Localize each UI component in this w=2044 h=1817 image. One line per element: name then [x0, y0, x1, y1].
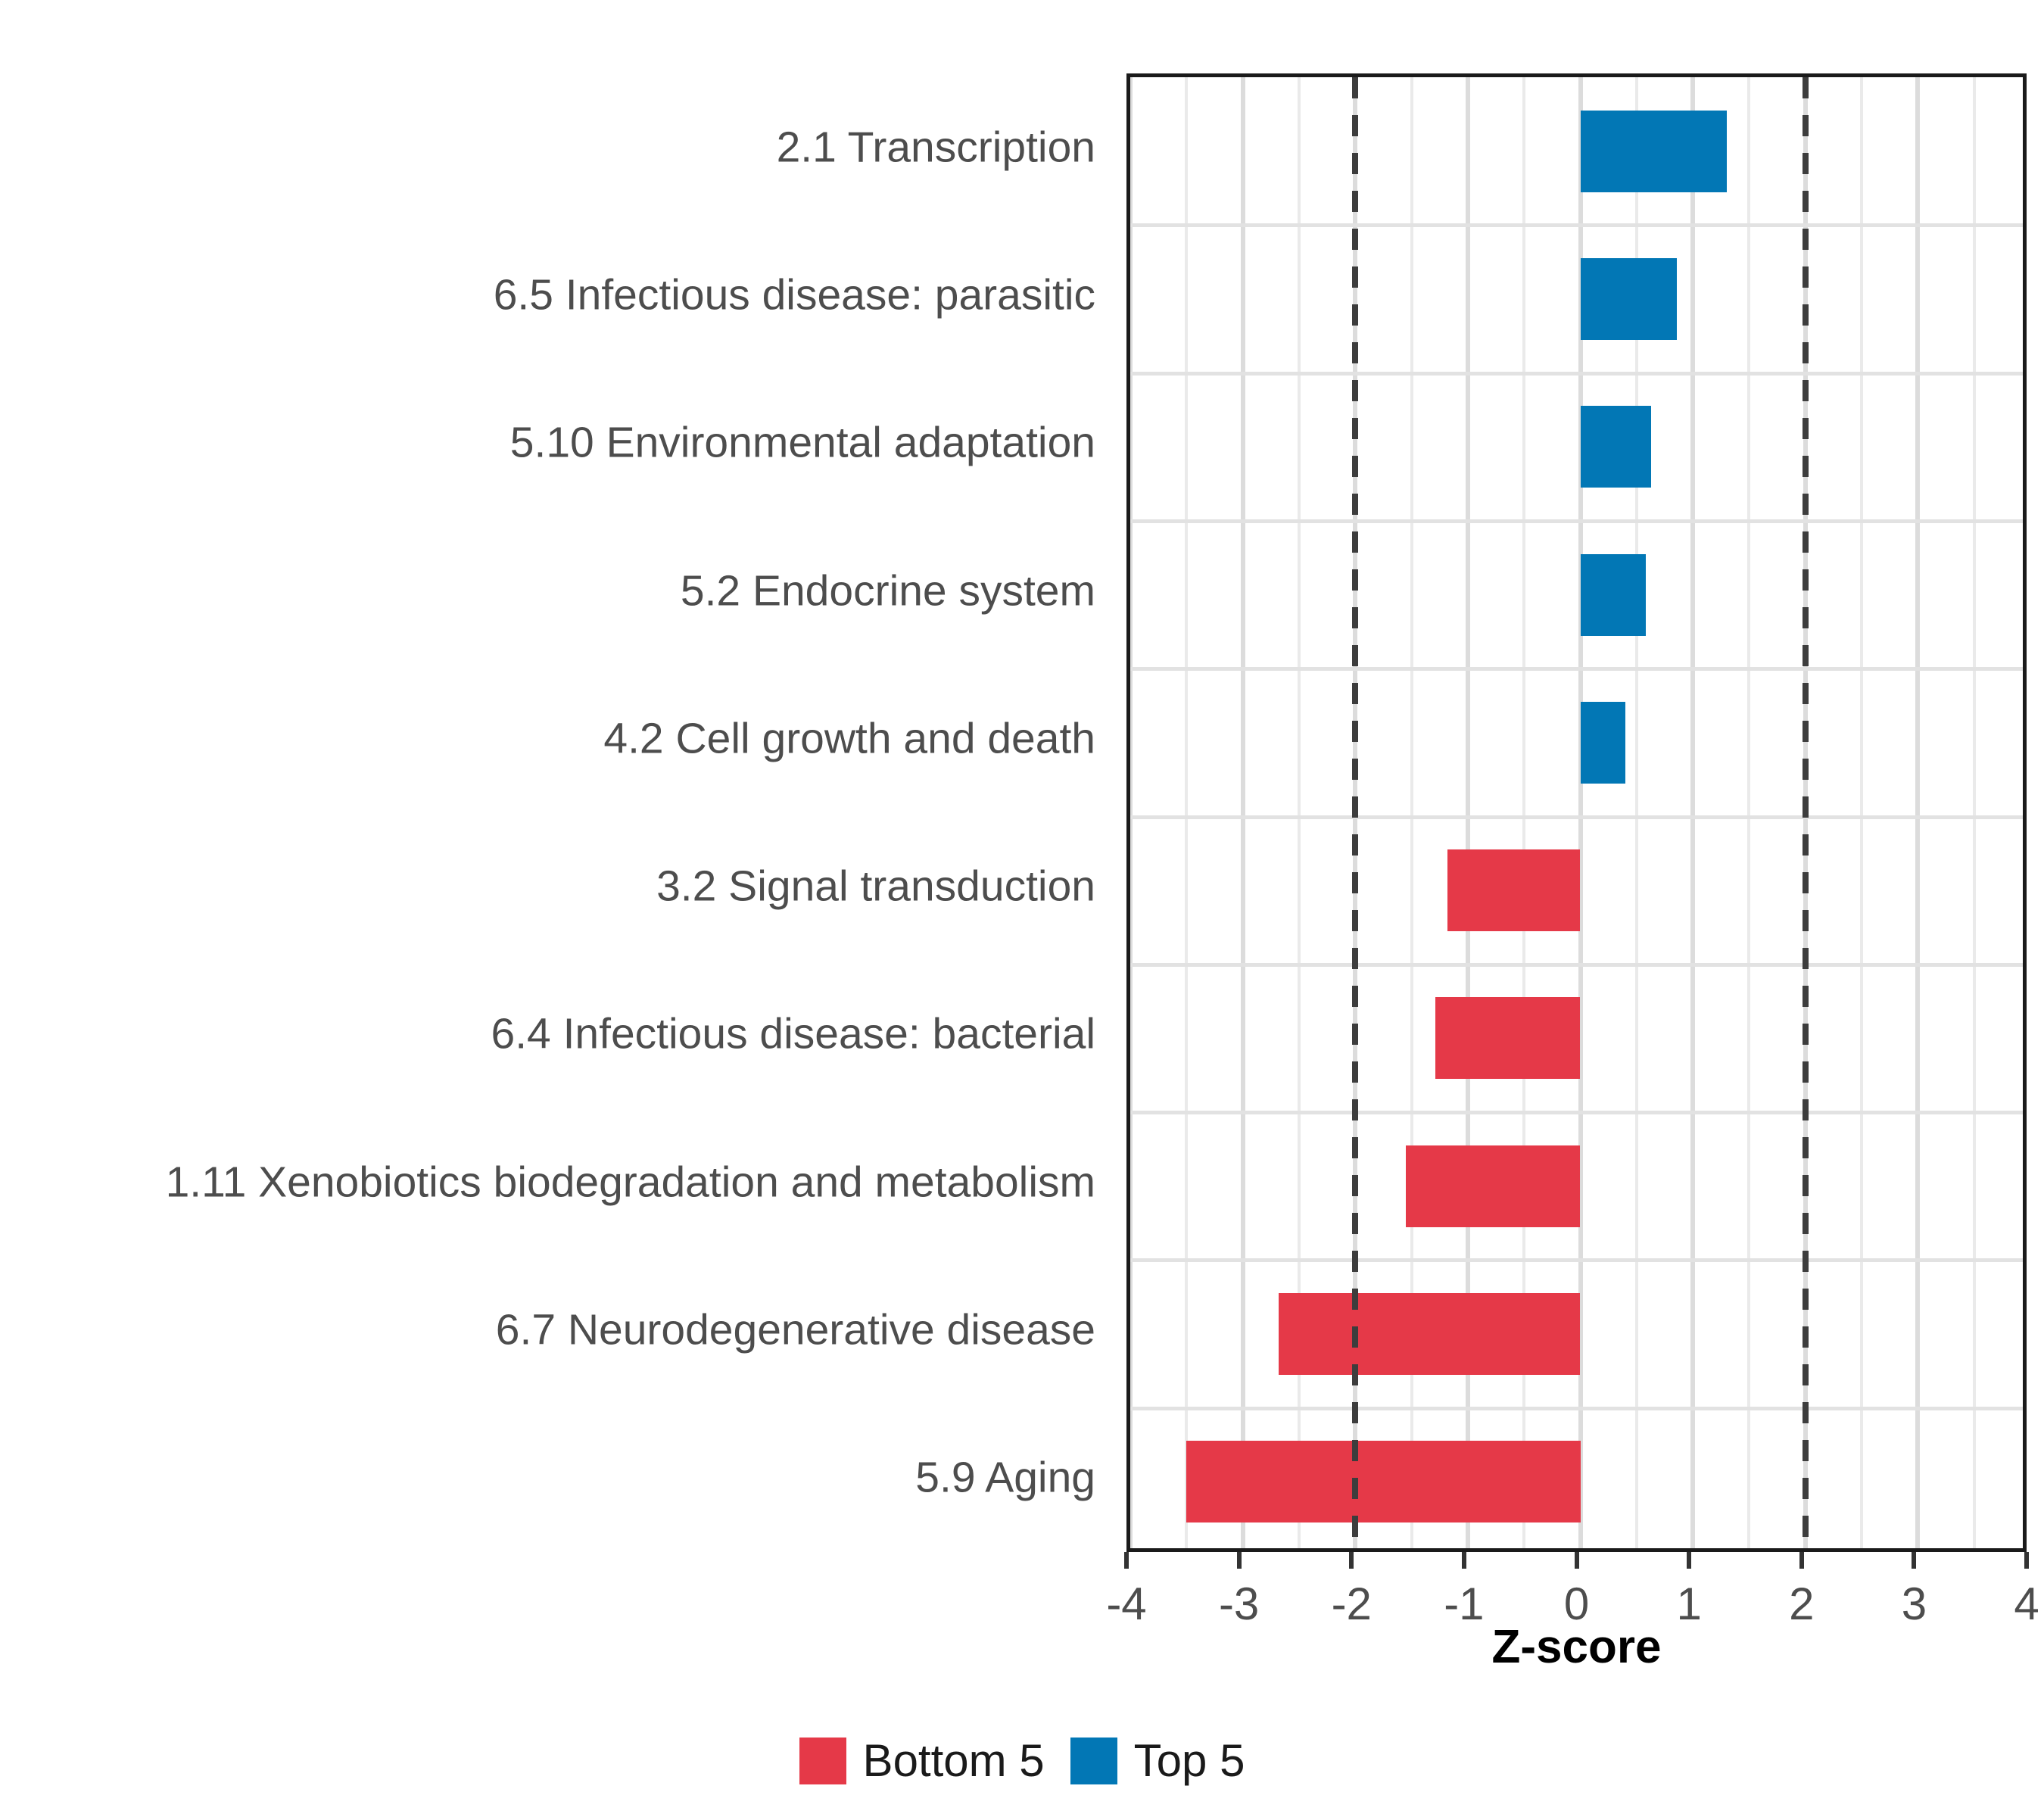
- y-axis-tick-label: 5.9 Aging: [0, 1457, 1101, 1500]
- y-axis-category-labels: 2.1 Transcription6.5 Infectious disease:…: [0, 73, 1101, 1552]
- y-axis-tick-label: 6.7 Neurodegenerative disease: [0, 1309, 1101, 1352]
- plot-area: [1130, 77, 2023, 1548]
- x-axis-tick-mark: [1462, 1552, 1466, 1569]
- y-axis-tick-label: 4.2 Cell growth and death: [0, 717, 1101, 760]
- grid-line-minor: [1973, 77, 1976, 1548]
- legend-label: Top 5: [1134, 1738, 1245, 1784]
- bar: [1581, 111, 1727, 192]
- y-axis-tick-label: 6.5 Infectious disease: parasitic: [0, 273, 1101, 316]
- x-axis-tick-mark: [1124, 1552, 1129, 1569]
- legend-item[interactable]: Top 5: [1070, 1738, 1245, 1784]
- grid-line-horizontal: [1130, 1111, 2023, 1114]
- grid-line-horizontal: [1130, 372, 2023, 376]
- bar: [1435, 997, 1581, 1079]
- y-axis-tick-label: 5.10 Environmental adaptation: [0, 422, 1101, 465]
- reference-line: [1803, 77, 1809, 1548]
- grid-line-minor: [1860, 77, 1863, 1548]
- legend-item[interactable]: Bottom 5: [799, 1738, 1045, 1784]
- x-axis-tick-mark: [2024, 1552, 2029, 1569]
- x-axis-tick-mark: [1912, 1552, 1916, 1569]
- y-axis-tick-label: 6.4 Infectious disease: bacterial: [0, 1013, 1101, 1056]
- grid-line-horizontal: [1130, 963, 2023, 967]
- bar: [1581, 258, 1678, 340]
- x-axis-title: Z-score: [1126, 1620, 2027, 1674]
- grid-line-horizontal: [1130, 223, 2023, 227]
- x-axis-tick-mark: [1575, 1552, 1579, 1569]
- legend-color-swatch: [799, 1738, 846, 1784]
- y-axis-tick-label: 5.2 Endocrine system: [0, 569, 1101, 612]
- x-axis-tick-mark: [1349, 1552, 1354, 1569]
- y-axis-tick-label: 2.1 Transcription: [0, 126, 1101, 169]
- bar: [1447, 849, 1580, 931]
- grid-line-major: [1241, 77, 1245, 1548]
- chart-legend: Bottom 5Top 5: [0, 1738, 2044, 1784]
- grid-line-horizontal: [1130, 1407, 2023, 1410]
- bar: [1581, 406, 1652, 488]
- legend-color-swatch: [1070, 1738, 1117, 1784]
- reference-line: [1352, 77, 1358, 1548]
- x-axis-tick-mark: [1237, 1552, 1242, 1569]
- bar: [1279, 1293, 1580, 1375]
- bar: [1581, 554, 1646, 636]
- grid-line-minor: [1747, 77, 1750, 1548]
- y-axis-tick-label: 3.2 Signal transduction: [0, 865, 1101, 908]
- bar: [1406, 1145, 1580, 1227]
- grid-line-horizontal: [1130, 667, 2023, 671]
- grid-line-minor: [1185, 77, 1188, 1548]
- legend-label: Bottom 5: [863, 1738, 1045, 1784]
- x-axis-tick-mark: [1687, 1552, 1691, 1569]
- grid-line-major: [1915, 77, 1920, 1548]
- bar: [1186, 1441, 1580, 1522]
- grid-line-horizontal: [1130, 519, 2023, 523]
- y-axis-tick-label: 1.11 Xenobiotics biodegradation and meta…: [0, 1161, 1101, 1204]
- plot-panel: [1126, 73, 2027, 1552]
- grid-line-horizontal: [1130, 1258, 2023, 1262]
- bar: [1581, 702, 1625, 784]
- grid-line-major: [1690, 77, 1695, 1548]
- chart-figure: 2.1 Transcription6.5 Infectious disease:…: [0, 0, 2044, 1817]
- x-axis-tick-mark: [1799, 1552, 1804, 1569]
- grid-line-major: [1130, 77, 1133, 1548]
- grid-line-horizontal: [1130, 815, 2023, 819]
